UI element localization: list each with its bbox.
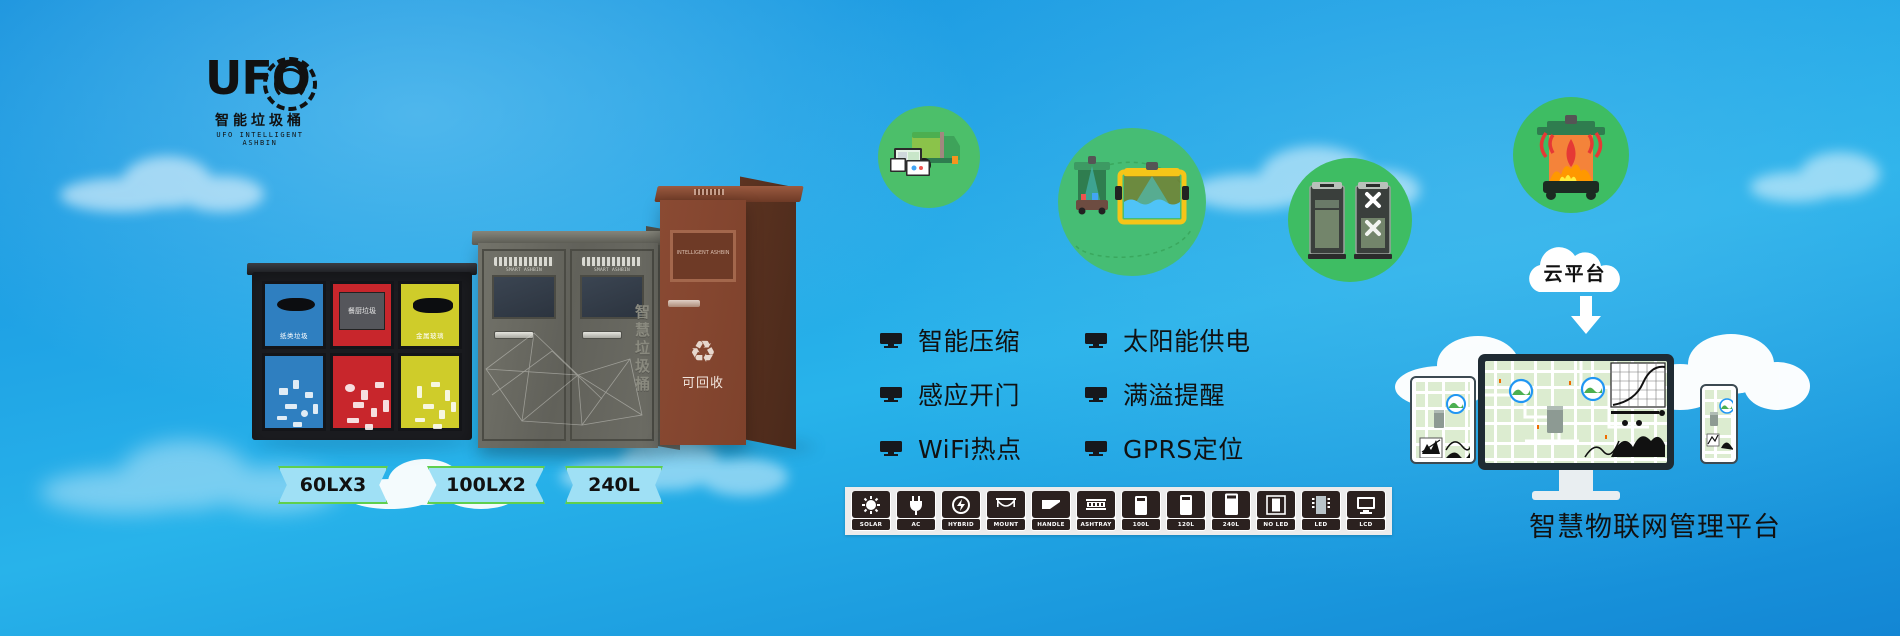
spec-label: HANDLE bbox=[1032, 519, 1070, 530]
power-plug-icon bbox=[897, 491, 935, 518]
spec-item-hybrid[interactable]: HYBRID bbox=[941, 491, 981, 531]
monitor-icon bbox=[1085, 333, 1107, 348]
bin-door-header-strip bbox=[582, 257, 642, 266]
bin-side-panel bbox=[740, 177, 796, 450]
feature-label: 感应开门 bbox=[918, 376, 1020, 412]
bin-upper-panel: 纸类垃圾 bbox=[262, 281, 326, 349]
phone-screen bbox=[1705, 390, 1733, 458]
monitor-icon bbox=[880, 387, 902, 402]
bin-cell-label: 金属玻璃 bbox=[401, 330, 459, 340]
bin-vent bbox=[694, 189, 724, 195]
bin-fill-sensor-icon bbox=[1058, 128, 1206, 276]
monitor-icon bbox=[880, 441, 902, 456]
feature-label: 太阳能供电 bbox=[1123, 322, 1251, 358]
feature-label: 智能压缩 bbox=[918, 322, 1020, 358]
logo-english-name: UFO INTELLIGENT ASHBIN bbox=[205, 131, 315, 147]
spec-item-handle[interactable]: HANDLE bbox=[1031, 491, 1071, 531]
waste-slot bbox=[413, 298, 453, 313]
no-led-icon bbox=[1257, 491, 1295, 518]
bin-door-sub-text: SMART ASHBIN bbox=[490, 268, 558, 273]
bin-body: SMART ASHBIN SMART ASHBIN 智慧垃圾桶 bbox=[478, 243, 658, 448]
spec-item-lcd[interactable]: LCD bbox=[1346, 491, 1386, 531]
bin-cell-metal-glass: 金属玻璃 bbox=[398, 281, 462, 431]
litter-graphic bbox=[339, 370, 385, 420]
capacity-banner-100lx2: 100LX2 bbox=[427, 466, 545, 504]
monitor-icon bbox=[1085, 387, 1107, 402]
cloud-platform-badge-label: 云平台 bbox=[1543, 259, 1606, 286]
spec-item-240l[interactable]: 240L bbox=[1211, 491, 1251, 531]
capacity-label: 240L bbox=[588, 474, 640, 496]
tablet-screen bbox=[1416, 382, 1470, 458]
bin-upper-panel: 餐厨垃圾 bbox=[330, 281, 394, 349]
bin-cell-kitchen: 餐厨垃圾 bbox=[330, 281, 394, 431]
lightning-icon bbox=[942, 491, 980, 518]
feature-item: 智能压缩 bbox=[880, 322, 1045, 358]
capacity-banner-240l: 240L bbox=[565, 466, 663, 504]
feature-item: GPRS定位 bbox=[1085, 430, 1302, 466]
polygon-texture-graphic bbox=[482, 329, 650, 429]
product-smart-double-bin: SMART ASHBIN SMART ASHBIN 智慧垃圾桶 bbox=[478, 243, 658, 448]
fill-level-circle bbox=[1058, 128, 1206, 276]
bin-cell-label: 餐厨垃圾 bbox=[340, 306, 384, 316]
wall-mount-icon bbox=[987, 491, 1025, 518]
spec-label: NO LED bbox=[1257, 519, 1295, 530]
lcd-icon bbox=[1347, 491, 1385, 518]
spec-item-100l[interactable]: 100L bbox=[1121, 491, 1161, 531]
feature-item: 太阳能供电 bbox=[1085, 322, 1302, 358]
fire-alarm-bin-icon bbox=[1513, 97, 1629, 213]
compaction-bins-icon bbox=[1288, 158, 1412, 282]
bin-display-screen: 餐厨垃圾 bbox=[339, 292, 385, 330]
cloud-platform-badge: 云平台 bbox=[1515, 246, 1635, 298]
spec-item-led[interactable]: LED bbox=[1301, 491, 1341, 531]
litter-graphic bbox=[271, 370, 317, 420]
bin-lower-panel bbox=[262, 353, 326, 431]
dashboard-title: 智慧物联网管理平台 bbox=[1475, 505, 1835, 544]
spec-item-mount[interactable]: MOUNT bbox=[986, 491, 1026, 531]
litter-graphic bbox=[407, 370, 453, 420]
tablet-chart-overlay bbox=[1416, 382, 1470, 458]
tablet-device bbox=[1410, 376, 1476, 464]
monitor-icon bbox=[1085, 441, 1107, 456]
sun-icon bbox=[852, 491, 890, 518]
spec-label: 240L bbox=[1212, 519, 1250, 530]
spec-label: LED bbox=[1302, 519, 1340, 530]
ufo-ring-icon bbox=[263, 57, 317, 111]
desktop-monitor bbox=[1478, 354, 1674, 470]
waste-slot bbox=[277, 298, 315, 311]
spec-label: 100L bbox=[1122, 519, 1160, 530]
bin-lower-panel bbox=[398, 353, 462, 431]
compression-circle bbox=[1288, 158, 1412, 282]
phone-chart-overlay bbox=[1705, 390, 1733, 458]
spec-label: HYBRID bbox=[942, 519, 980, 530]
bin-120l-icon bbox=[1167, 491, 1205, 518]
bin-lower-panel bbox=[330, 353, 394, 431]
capacity-label: 60LX3 bbox=[300, 474, 366, 496]
fire-alarm-circle bbox=[1513, 97, 1629, 213]
monitor-neck bbox=[1559, 470, 1593, 492]
cloud-platform-dashboard bbox=[1410, 330, 1740, 510]
monitor-screen bbox=[1485, 361, 1667, 463]
led-icon bbox=[1302, 491, 1340, 518]
spec-item-no-led[interactable]: NO LED bbox=[1256, 491, 1296, 531]
bin-body: INTELLIGENT ASHBIN ♻ 可回收 bbox=[660, 200, 746, 445]
spec-label: ASHTRAY bbox=[1077, 519, 1115, 530]
bin-vertical-text-value: 智慧垃圾桶 bbox=[635, 303, 650, 393]
brand-logo: UFO 智能垃圾桶 UFO INTELLIGENT ASHBIN bbox=[205, 55, 315, 150]
spec-label: AC bbox=[897, 519, 935, 530]
dashboard-overlay bbox=[1485, 361, 1667, 463]
spec-item-ac[interactable]: AC bbox=[896, 491, 936, 531]
bin-display-window: INTELLIGENT ASHBIN bbox=[670, 230, 736, 282]
bin-window-text: INTELLIGENT ASHBIN bbox=[673, 249, 733, 257]
bin-cell-label: 纸类垃圾 bbox=[265, 330, 323, 340]
spec-label: 120L bbox=[1167, 519, 1205, 530]
product-triple-recycling-bin: 纸类垃圾 餐厨垃圾 bbox=[252, 272, 472, 440]
spec-item-ashtray[interactable]: ASHTRAY bbox=[1076, 491, 1116, 531]
bin-handle[interactable] bbox=[668, 300, 700, 307]
product-banner: UFO 智能垃圾桶 UFO INTELLIGENT ASHBIN 纸类垃圾 bbox=[0, 0, 1900, 636]
spec-label: MOUNT bbox=[987, 519, 1025, 530]
capacity-banner-60lx3: 60LX3 bbox=[278, 466, 388, 504]
recycle-icon: ♻ bbox=[660, 335, 746, 370]
handle-icon bbox=[1032, 491, 1070, 518]
bin-display-window bbox=[492, 275, 556, 319]
spec-item-solar[interactable]: SOLAR bbox=[851, 491, 891, 531]
monitor-base bbox=[1532, 491, 1620, 500]
feature-label: GPRS定位 bbox=[1123, 430, 1244, 466]
logo-chinese-name: 智能垃圾桶 bbox=[205, 110, 315, 130]
recycle-label: 可回收 bbox=[660, 372, 746, 391]
ashtray-icon bbox=[1077, 491, 1115, 518]
bin-vertical-text: 智慧垃圾桶 bbox=[635, 303, 652, 393]
bin-100l-icon bbox=[1122, 491, 1160, 518]
feature-label: 满溢提醒 bbox=[1123, 376, 1225, 412]
smartphone-device bbox=[1700, 384, 1738, 464]
spec-icon-strip: SOLAR AC HYBRID MOUNT bbox=[845, 487, 1392, 535]
spec-label: SOLAR bbox=[852, 519, 890, 530]
bin-door-header-strip bbox=[494, 257, 554, 266]
monitor-icon bbox=[880, 333, 902, 348]
spec-item-120l[interactable]: 120L bbox=[1166, 491, 1206, 531]
feature-item: 满溢提醒 bbox=[1085, 376, 1302, 412]
feature-item: 感应开门 bbox=[880, 376, 1045, 412]
feature-label: WiFi热点 bbox=[918, 430, 1022, 466]
fleet-monitoring-circle bbox=[878, 106, 980, 208]
feature-item: WiFi热点 bbox=[880, 430, 1045, 466]
product-brown-recycling-bin: INTELLIGENT ASHBIN ♻ 可回收 bbox=[660, 200, 746, 445]
bin-cell-paper: 纸类垃圾 bbox=[262, 281, 326, 431]
bin-240l-icon bbox=[1212, 491, 1250, 518]
capacity-label: 100LX2 bbox=[446, 474, 526, 496]
spec-label: LCD bbox=[1347, 519, 1385, 530]
cloud-decoration bbox=[60, 150, 260, 220]
bin-door-sub-text: SMART ASHBIN bbox=[578, 268, 646, 273]
cloud-decoration bbox=[1750, 150, 1900, 210]
garbage-truck-icon bbox=[878, 106, 980, 208]
bin-upper-panel: 金属玻璃 bbox=[398, 281, 462, 349]
